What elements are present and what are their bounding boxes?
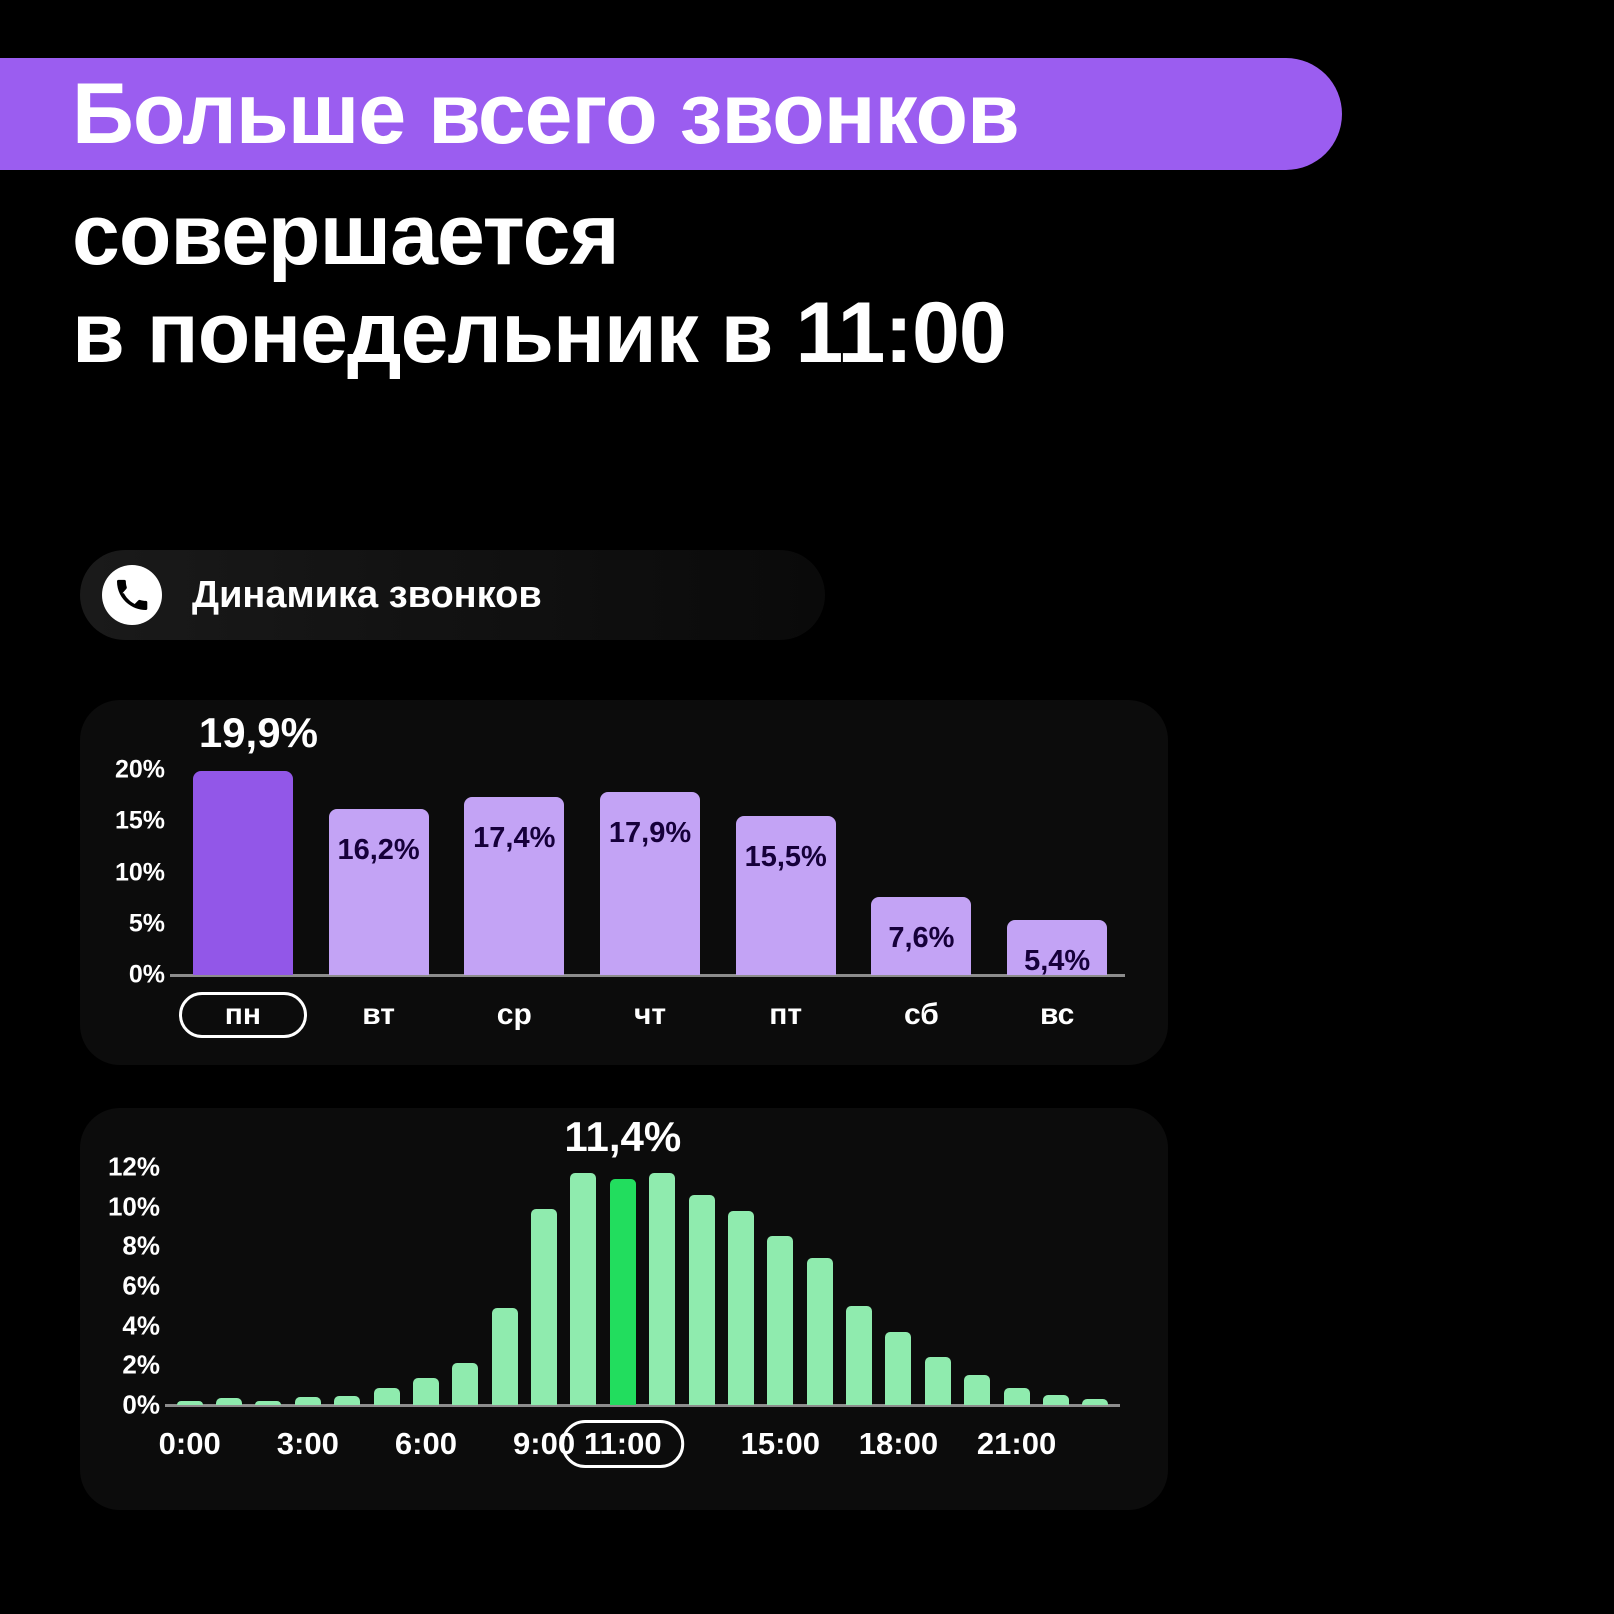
hour-bar[interactable] — [925, 1357, 951, 1405]
weekday-bar-column[interactable]: 5,4% — [1007, 760, 1107, 975]
hour-y-axis: 0%2%4%6%8%10%12% — [95, 1155, 160, 1405]
hour-bar[interactable] — [649, 1173, 675, 1405]
hour-bar[interactable] — [531, 1209, 557, 1405]
hour-y-tick: 0% — [122, 1390, 160, 1421]
weekday-x-tick-чт[interactable]: чт — [600, 992, 700, 1038]
hour-x-tick-18-00[interactable]: 18:00 — [849, 1420, 948, 1468]
weekday-bar-column[interactable]: 19,9% — [193, 760, 293, 975]
hour-x-tick-0-00[interactable]: 0:00 — [149, 1420, 231, 1468]
section-chip-call-dynamics[interactable]: Динамика звонков — [80, 550, 825, 640]
hour-bar[interactable] — [295, 1397, 321, 1405]
phone-icon — [102, 565, 162, 625]
weekday-x-tick-сб[interactable]: сб — [871, 992, 971, 1038]
hour-y-tick: 2% — [122, 1350, 160, 1381]
weekday-bar-column[interactable]: 15,5% — [736, 760, 836, 975]
weekday-bar — [736, 816, 836, 975]
hour-bar[interactable] — [492, 1308, 518, 1405]
weekday-y-axis: 0%5%10%15%20% — [100, 760, 165, 975]
hour-x-axis: 0:003:006:009:0011:0015:0018:0021:00 — [140, 1420, 1140, 1476]
weekday-bar-value: 5,4% — [1007, 945, 1107, 978]
hour-bar[interactable] — [255, 1401, 281, 1405]
weekday-x-tick-ср[interactable]: ср — [464, 992, 564, 1038]
headline-line3: в понедельник в 11:00 — [72, 290, 1006, 376]
hour-bar[interactable] — [1004, 1388, 1030, 1405]
hour-bar[interactable] — [570, 1173, 596, 1405]
weekday-y-tick: 10% — [115, 858, 165, 887]
weekday-y-tick: 15% — [115, 807, 165, 836]
hour-x-tick-21-00[interactable]: 21:00 — [967, 1420, 1066, 1468]
hour-y-tick: 10% — [108, 1191, 160, 1222]
weekday-bar-value: 17,9% — [600, 817, 700, 850]
weekday-bar-column[interactable]: 16,2% — [329, 760, 429, 975]
hour-bar[interactable] — [1082, 1399, 1108, 1405]
weekday-bar — [193, 771, 293, 975]
hour-bar[interactable] — [885, 1332, 911, 1405]
hour-bar[interactable] — [1043, 1395, 1069, 1405]
weekday-x-tick-пн[interactable]: пн — [179, 992, 307, 1038]
hour-bar[interactable] — [334, 1396, 360, 1405]
weekday-bar-value: 17,4% — [464, 822, 564, 855]
weekday-y-tick: 5% — [129, 909, 165, 938]
weekday-bar-column[interactable]: 17,4% — [464, 760, 564, 975]
weekday-bar-value: 7,6% — [871, 922, 971, 955]
weekday-bar-value: 19,9% — [199, 709, 299, 757]
hour-bar[interactable] — [807, 1258, 833, 1405]
headline-pill: Больше всего звонков — [0, 58, 1342, 170]
hour-bar[interactable] — [767, 1236, 793, 1405]
hour-bar[interactable] — [374, 1388, 400, 1405]
hour-bar[interactable] — [846, 1306, 872, 1405]
hour-y-tick: 6% — [122, 1270, 160, 1301]
hour-bar[interactable] — [177, 1401, 203, 1405]
hour-y-tick: 4% — [122, 1310, 160, 1341]
weekday-x-axis: пнвтсрчтптсбвс — [175, 992, 1125, 1048]
weekday-x-tick-пт[interactable]: пт — [736, 992, 836, 1038]
weekday-bar-value: 15,5% — [736, 841, 836, 874]
hour-bar[interactable] — [413, 1378, 439, 1405]
hour-bar[interactable] — [964, 1375, 990, 1405]
hour-bar[interactable] — [452, 1363, 478, 1405]
hour-bar[interactable] — [728, 1211, 754, 1405]
weekday-bars: 19,9%16,2%17,4%17,9%15,5%7,6%5,4% — [175, 760, 1125, 975]
hour-x-tick-3-00[interactable]: 3:00 — [267, 1420, 349, 1468]
hour-x-tick-11-00[interactable]: 11:00 — [561, 1420, 685, 1468]
hour-x-tick-6-00[interactable]: 6:00 — [385, 1420, 467, 1468]
infographic-page: Больше всего звонков совершается в понед… — [0, 0, 1614, 1614]
hour-x-tick-15-00[interactable]: 15:00 — [731, 1420, 830, 1468]
hour-y-tick: 8% — [122, 1231, 160, 1262]
hour-y-tick: 12% — [108, 1151, 160, 1182]
hour-bar[interactable] — [216, 1398, 242, 1405]
weekday-x-tick-вт[interactable]: вт — [329, 992, 429, 1038]
weekday-bar-value: 16,2% — [329, 834, 429, 867]
headline-line2: совершается — [72, 192, 619, 278]
weekday-y-tick: 0% — [129, 961, 165, 990]
weekday-bar-column[interactable]: 17,9% — [600, 760, 700, 975]
hour-peak-value: 11,4% — [564, 1113, 681, 1161]
hour-bars: 11,4% — [170, 1155, 1115, 1405]
weekday-x-tick-вс[interactable]: вс — [1007, 992, 1107, 1038]
hour-bar[interactable] — [689, 1195, 715, 1405]
weekday-y-tick: 20% — [115, 756, 165, 785]
headline-line1: Больше всего звонков — [0, 71, 1019, 157]
section-chip-label: Динамика звонков — [192, 574, 542, 617]
hour-bar[interactable] — [610, 1179, 636, 1405]
weekday-bar-column[interactable]: 7,6% — [871, 760, 971, 975]
